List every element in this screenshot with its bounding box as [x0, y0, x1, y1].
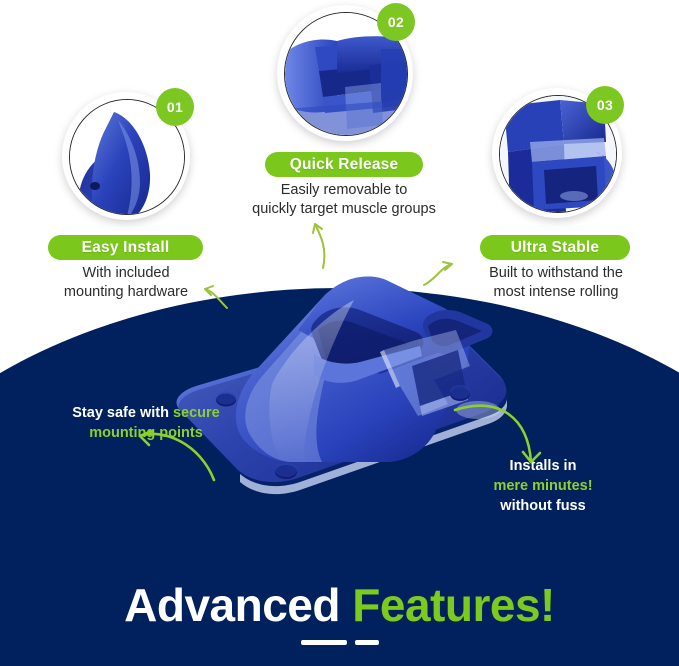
callout-secure-mounting: Stay safe with secure mounting points [36, 403, 256, 443]
feature-title-02: Quick Release [290, 156, 399, 174]
feature-pill-02[interactable]: Quick Release [265, 152, 423, 177]
headline-dashes [0, 634, 679, 652]
callout-secure-line1-highlight: secure [173, 405, 220, 421]
callout-secure-line2-highlight: mounting points [36, 423, 256, 443]
infographic-canvas: 01 Easy Install With included mounting h… [0, 0, 679, 666]
feature-caption-02: Easily removable to quickly target muscl… [233, 181, 455, 219]
feature-badge-01: 01 [156, 88, 194, 126]
bottom-headline: Advanced Features! [0, 578, 679, 632]
callout-installs-line2-highlight: mere minutes! [463, 476, 623, 496]
feature-circle-02: 02 [277, 5, 413, 141]
feature-number-03: 03 [597, 97, 613, 113]
feature-badge-02: 02 [377, 3, 415, 41]
headline-white-word: Advanced [124, 579, 340, 631]
feature-caption-02-line1: Easily removable to [233, 181, 455, 200]
callout-installs-line1: Installs in [463, 456, 623, 476]
callout-installs-fast: Installs in mere minutes! without fuss [463, 456, 623, 516]
headline-dash-short [355, 640, 379, 645]
feature-circle-01: 01 [62, 92, 190, 220]
callout-secure-line1: Stay safe with secure [36, 403, 256, 423]
callout-secure-line1-plain: Stay safe with [72, 405, 173, 421]
feature-badge-03: 03 [586, 86, 624, 124]
headline-green-word: Features! [352, 579, 555, 631]
feature-caption-02-line2: quickly target muscle groups [233, 200, 455, 219]
callout-installs-line3: without fuss [463, 496, 623, 516]
feature-number-01: 01 [167, 99, 183, 115]
headline-dash-long [301, 640, 347, 645]
feature-circle-03: 03 [492, 88, 622, 218]
feature-number-02: 02 [388, 14, 404, 30]
